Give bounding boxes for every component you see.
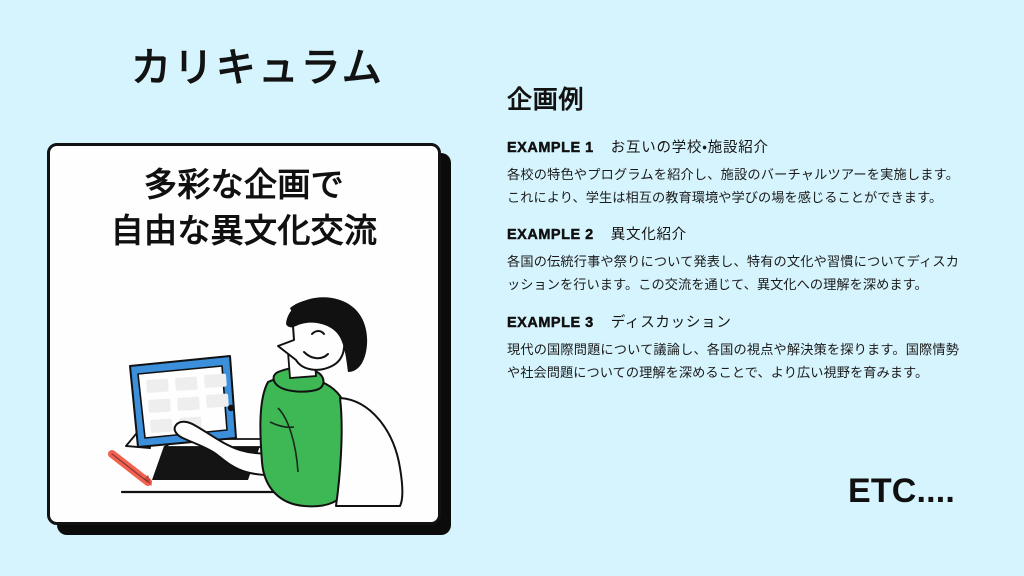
example-label: EXAMPLE 2 — [507, 227, 594, 243]
example-label: EXAMPLE 1 — [507, 140, 594, 156]
example-label: EXAMPLE 3 — [507, 315, 594, 331]
white-back-shape — [336, 398, 402, 506]
illustration-svg — [64, 296, 430, 518]
card-surface: 多彩な企画で 自由な異文化交流 — [47, 143, 441, 525]
example-name: お互いの学校・施設紹介 — [611, 136, 769, 157]
curriculum-card: 多彩な企画で 自由な異文化交流 — [47, 143, 451, 535]
example-header: EXAMPLE 3 ディスカッション — [507, 311, 959, 332]
etc-note: ETC.... — [507, 472, 955, 511]
example-body: 各国の伝統行事や祭りについて発表し、特有の文化や習慣についてディスカッションを行… — [507, 251, 959, 296]
illustration-person-pointing-at-tablet — [64, 296, 430, 518]
right-column: 企画例 EXAMPLE 1 お互いの学校・施設紹介 各校の特色やプログラムを紹介… — [507, 0, 967, 576]
example-item: EXAMPLE 1 お互いの学校・施設紹介 各校の特色やプログラムを紹介し、施設… — [507, 136, 959, 209]
example-body: 各校の特色やプログラムを紹介し、施設のバーチャルツアーを実施します。これにより、… — [507, 164, 959, 209]
example-header: EXAMPLE 2 異文化紹介 — [507, 223, 959, 244]
example-name: 異文化紹介 — [611, 223, 687, 244]
left-column: カリキュラム 多彩な企画で 自由な異文化交流 — [0, 0, 490, 576]
example-item: EXAMPLE 3 ディスカッション 現代の国際問題について議論し、各国の視点や… — [507, 311, 959, 384]
example-item: EXAMPLE 2 異文化紹介 各国の伝統行事や祭りについて発表し、特有の文化や… — [507, 223, 959, 296]
page-title: カリキュラム — [131, 46, 384, 90]
tablet-camera-dot — [228, 405, 234, 411]
example-body: 現代の国際問題について議論し、各国の視点や解決策を探ります。国際情勢や社会問題に… — [507, 339, 959, 384]
green-sweater — [260, 377, 351, 507]
card-heading: 多彩な企画で 自由な異文化交流 — [50, 162, 438, 253]
examples-list: EXAMPLE 1 お互いの学校・施設紹介 各校の特色やプログラムを紹介し、施設… — [507, 136, 959, 398]
card-heading-line-2: 自由な異文化交流 — [50, 208, 438, 254]
section-title-examples: 企画例 — [507, 80, 584, 116]
example-name: ディスカッション — [611, 311, 732, 332]
example-header: EXAMPLE 1 お互いの学校・施設紹介 — [507, 136, 959, 157]
card-heading-line-1: 多彩な企画で — [50, 162, 438, 208]
red-pencil-icon — [112, 454, 152, 486]
slide-root: カリキュラム 多彩な企画で 自由な異文化交流 — [0, 0, 1024, 576]
